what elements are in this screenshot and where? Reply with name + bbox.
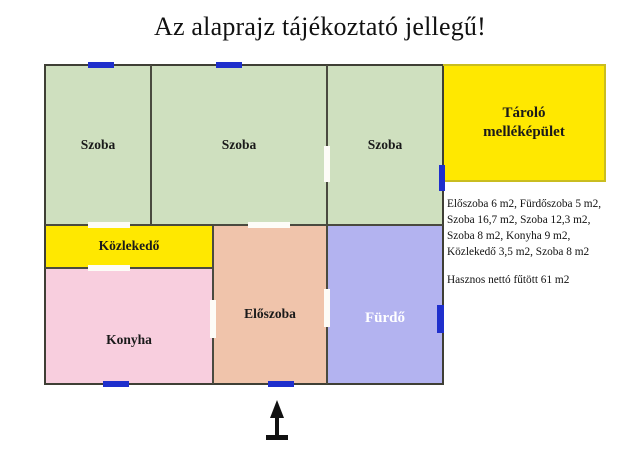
room-label-szoba-3: Szoba — [368, 137, 403, 154]
room-label-konyha: Konyha — [106, 332, 152, 349]
room-label-tarolo-line1: Tároló — [502, 105, 545, 121]
window-szoba2-north — [216, 62, 242, 68]
room-label-tarolo-line2: melléképület — [483, 124, 565, 140]
area-info-spacer — [447, 260, 637, 272]
room-szoba-1[interactable]: Szoba — [45, 65, 151, 225]
room-szoba-2[interactable]: Szoba — [151, 65, 327, 225]
door-konyha-eloszoba[interactable] — [210, 300, 216, 338]
wall-tarolo-north — [443, 64, 606, 66]
room-label-szoba-1: Szoba — [81, 137, 116, 154]
wall-tarolo-east — [604, 64, 606, 182]
room-furdo[interactable]: Fürdő — [327, 225, 443, 384]
area-info-summary: Hasznos nettó fűtött 61 m2 — [447, 272, 637, 288]
window-furdo-east — [437, 305, 444, 333]
area-info-line-2: Szoba 16,7 m2, Szoba 12,3 m2, — [447, 212, 637, 228]
wall-tarolo-south — [443, 180, 606, 182]
floor-plan-page: Az alaprajz tájékoztató jellegű! Szoba S… — [0, 0, 640, 452]
door-kozlekedo-konyha[interactable] — [88, 265, 130, 271]
wall-interior-szoba1-szoba2 — [150, 65, 152, 225]
door-szoba2-eloszoba[interactable] — [248, 222, 290, 228]
area-info-line-1: Előszoba 6 m2, Fürdőszoba 5 m2, — [447, 196, 637, 212]
room-kozlekedo[interactable]: Közlekedő — [45, 225, 213, 268]
door-szoba1-kozlekedo[interactable] — [88, 222, 130, 228]
window-eloszoba-south — [268, 381, 294, 387]
room-eloszoba[interactable]: Előszoba — [213, 225, 327, 384]
room-label-tarolo: Tároló melléképület — [483, 104, 565, 142]
room-konyha[interactable]: Konyha — [45, 268, 213, 384]
room-label-szoba-2: Szoba — [222, 137, 257, 154]
door-szoba2-szoba3[interactable] — [324, 146, 330, 182]
area-info-text: Előszoba 6 m2, Fürdőszoba 5 m2, Szoba 16… — [447, 196, 637, 288]
room-szoba-3[interactable]: Szoba — [327, 65, 443, 225]
area-info-line-3: Szoba 8 m2, Konyha 9 m2, — [447, 228, 637, 244]
window-konyha-south — [103, 381, 129, 387]
room-label-eloszoba: Előszoba — [244, 306, 296, 323]
north-arrow-icon — [262, 400, 302, 444]
room-label-kozlekedo: Közlekedő — [99, 238, 160, 255]
area-info-line-4: Közlekedő 3,5 m2, Szoba 8 m2 — [447, 244, 637, 260]
window-szoba1-north — [88, 62, 114, 68]
window-szoba3-east — [439, 165, 445, 191]
door-eloszoba-furdo[interactable] — [324, 289, 330, 327]
room-tarolo-mellekepulet[interactable]: Tároló melléképület — [443, 64, 605, 181]
room-label-furdo: Fürdő — [365, 309, 405, 328]
wall-interior-szoba2-szoba3 — [326, 65, 328, 225]
